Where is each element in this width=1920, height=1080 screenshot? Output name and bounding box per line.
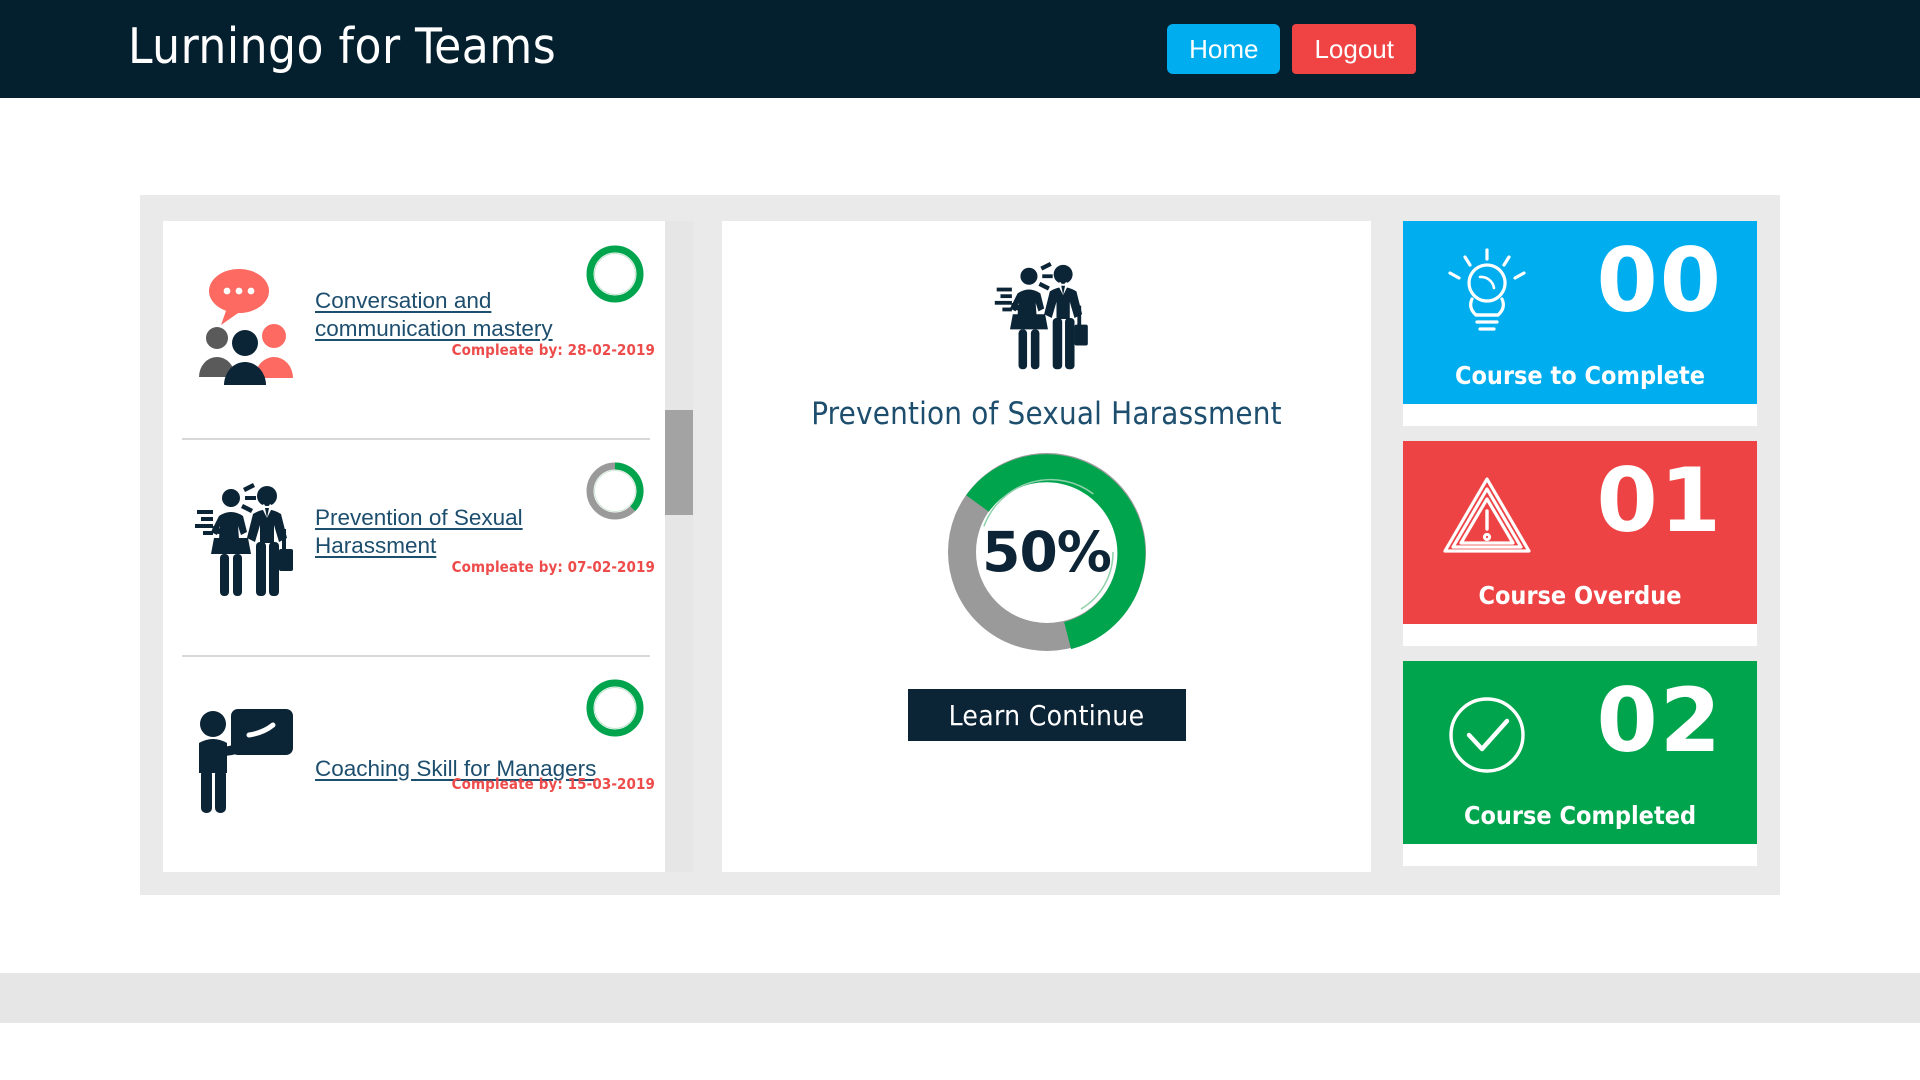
check-circle-icon	[1439, 687, 1535, 783]
progress-donut-chart: 50%	[941, 446, 1153, 658]
list-item[interactable]: Coaching Skill for Managers Compleate by…	[163, 655, 673, 872]
course-list-scrollport[interactable]: Conversation and communication mastery C…	[163, 221, 673, 872]
card-gap	[1403, 404, 1757, 426]
course-due-date: Compleate by: 28-02-2019	[452, 341, 655, 359]
list-item[interactable]: Conversation and communication mastery C…	[163, 221, 673, 438]
course-list-panel: Conversation and communication mastery C…	[163, 221, 673, 872]
harassment-icon	[991, 243, 1103, 393]
stat-card-course-to-complete[interactable]: 00 Course to Complete	[1403, 221, 1757, 404]
app-brand-title: Lurningo for Teams	[128, 17, 556, 77]
stats-column: 00 Course to Complete 01 Co	[1403, 221, 1757, 872]
footer-bar	[0, 973, 1920, 1023]
lightbulb-icon	[1439, 247, 1535, 343]
warning-icon	[1439, 467, 1535, 563]
stat-label: Course Overdue	[1403, 581, 1757, 610]
course-progress-ring	[584, 677, 646, 739]
top-header-bar: Lurningo for Teams Home Logout	[0, 0, 1920, 98]
current-course-title: Prevention of Sexual Harassment	[722, 396, 1371, 432]
stat-card-course-overdue[interactable]: 01 Course Overdue	[1403, 441, 1757, 624]
course-title-link[interactable]: Prevention of Sexual Harassment	[315, 505, 523, 558]
course-progress-ring	[584, 460, 646, 522]
progress-percent-label: 50%	[941, 446, 1153, 658]
learn-continue-button[interactable]: Learn Continue	[908, 689, 1186, 741]
coaching-icon	[191, 699, 309, 819]
stat-label: Course to Complete	[1403, 361, 1757, 390]
current-course-panel: Prevention of Sexual Harassment 50% Lear…	[722, 221, 1371, 872]
course-due-date: Compleate by: 15-03-2019	[452, 775, 655, 793]
course-due-date: Compleate by: 07-02-2019	[452, 558, 655, 576]
list-divider	[182, 655, 650, 657]
conversation-icon	[191, 265, 309, 385]
stat-label: Course Completed	[1403, 801, 1757, 830]
list-divider	[182, 438, 650, 440]
stat-count: 01	[1597, 451, 1723, 551]
home-button[interactable]: Home	[1167, 24, 1280, 74]
stat-count: 00	[1597, 231, 1723, 331]
harassment-icon	[191, 482, 309, 602]
logout-button[interactable]: Logout	[1292, 24, 1416, 74]
dashboard-container: Conversation and communication mastery C…	[140, 195, 1780, 895]
header-nav: Home Logout	[1167, 24, 1416, 74]
list-item[interactable]: Prevention of Sexual Harassment Compleat…	[163, 438, 673, 655]
course-list-scrollbar-thumb[interactable]	[665, 410, 693, 515]
course-progress-ring	[584, 243, 646, 305]
course-list-scrollbar-track[interactable]	[665, 221, 693, 872]
course-title-link[interactable]: Conversation and communication mastery	[315, 288, 553, 341]
stat-card-course-completed[interactable]: 02 Course Completed	[1403, 661, 1757, 844]
card-gap	[1403, 624, 1757, 646]
card-gap	[1403, 844, 1757, 866]
stat-count: 02	[1597, 671, 1723, 771]
